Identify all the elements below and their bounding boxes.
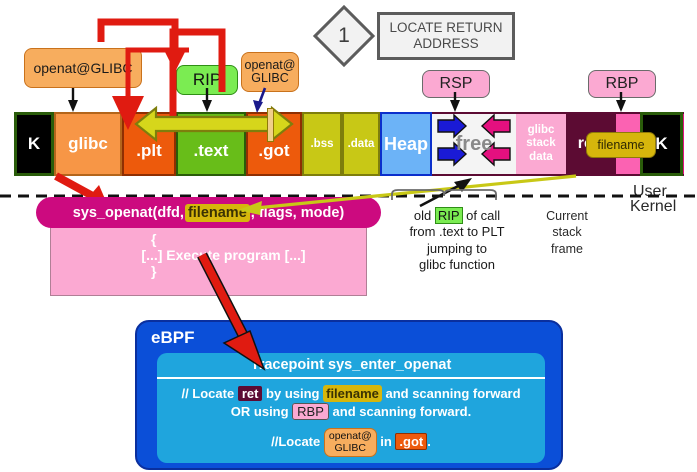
ebpf-openat-line2: GLIBC — [334, 443, 366, 455]
ebpf-line3-b: in — [377, 434, 396, 449]
segment-label-line1: glibc — [528, 124, 555, 137]
ebpf-comment-line-3: //Locate openat@GLIBC in .got. — [157, 428, 545, 457]
ebpf-filename-tag[interactable]: filename — [323, 385, 382, 402]
stack-filename-tag[interactable]: filename — [586, 132, 656, 158]
ebpf-line1-a: // Locate — [181, 386, 237, 401]
step-banner-line2: ADDRESS — [389, 36, 502, 52]
ebpf-trace-arrow — [180, 245, 320, 375]
step-number-diamond: 1 — [313, 5, 375, 67]
ebpf-line2-b: and scanning forward. — [329, 404, 471, 419]
ebpf-line1-c: and scanning forward — [382, 386, 521, 401]
got-entry-marker — [267, 108, 274, 142]
ebpf-comment-line-1: // Locate ret by using filename and scan… — [157, 386, 545, 401]
stack-frame-line2: stack — [527, 224, 607, 240]
ebpf-openat-glibc-tag[interactable]: openat@GLIBC — [324, 428, 377, 457]
ebpf-line3-a: //Locate — [271, 434, 324, 449]
step-banner-line1: LOCATE RETURN — [389, 20, 502, 36]
step-number: 1 — [313, 5, 375, 67]
ebpf-line3-c: . — [427, 434, 431, 449]
diagram-canvas: K glibc .plt .text .got .bss .data Heap — [0, 0, 697, 472]
ebpf-line1-b: by using — [262, 386, 323, 401]
stack-filename-label: filename — [597, 138, 644, 152]
old-rip-line4: glibc function — [382, 257, 532, 273]
old-rip-line2: from .text to PLT — [382, 224, 532, 240]
ebpf-comment-line-2: OR using RBP and scanning forward. — [157, 404, 545, 419]
step-banner: LOCATE RETURN ADDRESS — [377, 12, 515, 60]
old-rip-pointer-arrow — [380, 170, 680, 210]
ebpf-ret-tag[interactable]: ret — [238, 386, 263, 401]
ebpf-line2-a: OR using — [231, 404, 292, 419]
ebpf-openat-line1: openat@ — [329, 431, 372, 443]
ebpf-rbp-tag[interactable]: RBP — [292, 403, 329, 420]
ebpf-got-tag[interactable]: .got — [395, 433, 427, 450]
old-rip-line3: jumping to — [382, 241, 532, 257]
stack-frame-line3: frame — [527, 241, 607, 257]
